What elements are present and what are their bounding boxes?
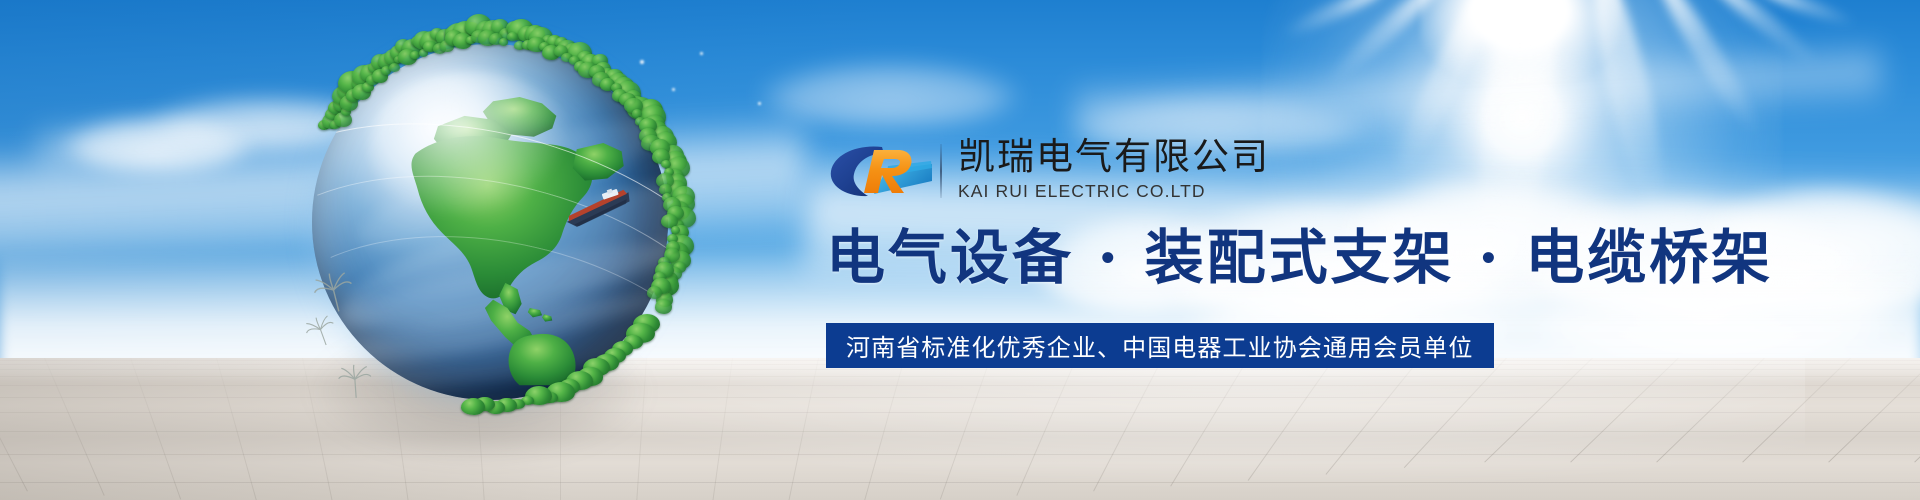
rim-tree [666,241,680,253]
honour-badge-bar: 河南省标准化优秀企业、中国电器工业协会通用会员单位 [826,323,1494,368]
rim-tree [371,54,389,69]
rim-tree [555,37,568,48]
rim-tree [539,42,550,51]
ground-joint-horizontal [0,482,1920,483]
rim-tree [368,62,381,73]
rim-tree [394,56,403,64]
rim-tree [420,31,443,51]
rim-tree [547,35,562,48]
rim-tree [378,53,397,69]
rim-tree [663,151,687,172]
rim-tree [665,180,687,199]
rim-tree [672,225,689,240]
sparkle [758,102,761,105]
company-name-en: KAI RUI ELECTRIC CO.LTD [958,179,1270,204]
rim-tree [664,168,674,176]
rim-tree [395,39,411,53]
sparkle [640,60,644,64]
rim-tree [423,41,437,53]
rim-tree [507,32,518,41]
rim-tree [466,36,476,44]
rim-tree [654,143,673,159]
rim-tree [670,219,685,232]
rim-tree [563,43,583,60]
globe-specular-highlight [369,72,575,222]
rim-tree [592,54,608,68]
brand-lockup[interactable]: 凯瑞电气有限公司 KAI RUI ELECTRIC CO.LTD [828,138,1270,204]
rim-tree [665,242,688,262]
rim-tree [670,251,691,269]
rim-tree [402,39,422,56]
rim-tree [667,234,678,243]
rim-tree [661,160,671,168]
rim-tree [384,49,403,65]
rim-tree [554,45,568,57]
rim-tree [567,42,592,64]
headline-slogan: 电气设备 · 装配式支架 · 电缆桥架 [826,228,1773,287]
rim-tree [668,201,691,220]
sparkle [700,52,703,55]
rim-tree [666,157,690,178]
rim-tree [325,108,339,120]
rim-tree [410,51,420,59]
rim-tree [673,262,686,273]
honour-badge-text: 河南省标准化优秀企业、中国电器工业协会通用会员单位 [846,328,1474,363]
logo-divider [940,144,942,198]
green-earth-globe [288,34,690,454]
rim-tree [667,174,687,192]
sparkle [672,88,675,91]
rim-tree [667,267,682,280]
brand-text: 凯瑞电气有限公司 KAI RUI ELECTRIC CO.LTD [958,138,1270,204]
rim-tree [671,226,680,234]
rim-tree [322,113,340,129]
rim-tree [390,45,407,59]
rim-tree [557,40,576,57]
rim-tree [661,145,684,165]
ground-joint-perspective [1828,358,1920,463]
hero-banner: 凯瑞电气有限公司 KAI RUI ELECTRIC CO.LTD 电气设备 · … [0,0,1920,500]
rim-tree [577,51,593,65]
rim-tree [413,31,435,50]
cr-monogram-logo[interactable] [828,140,936,202]
rim-tree [411,36,423,46]
rim-tree [666,169,684,184]
rim-tree [672,234,684,244]
rim-tree [542,35,554,45]
globe-sphere [312,44,668,400]
rim-tree [667,206,684,221]
rim-tree [318,120,330,130]
company-name-cn: 凯瑞电气有限公司 [958,138,1270,176]
rim-tree [581,54,600,70]
ground-joint-horizontal [0,454,1920,455]
